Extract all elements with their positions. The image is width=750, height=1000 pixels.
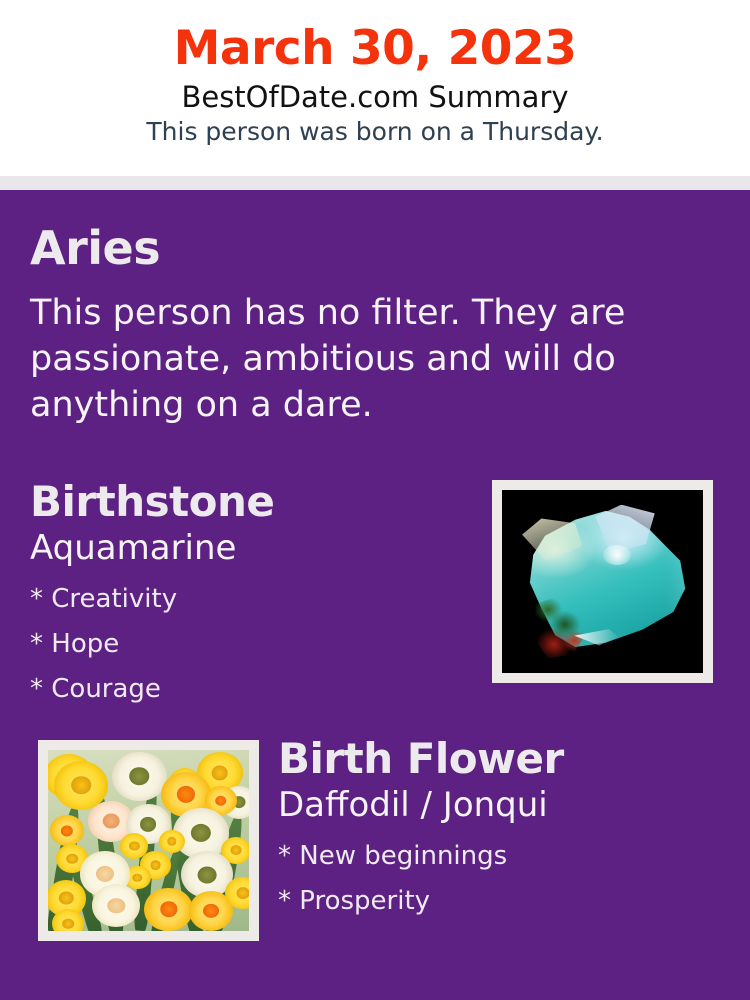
birth-flower-photo-frame xyxy=(38,740,259,941)
birth-flower-heading: Birth Flower xyxy=(278,735,718,783)
aquamarine-crystal-photo xyxy=(502,490,703,673)
birth-flower-name: Daffodil / Jonqui xyxy=(278,784,718,826)
daffodil-bloom xyxy=(52,909,84,931)
birth-flower-trait-list: * New beginnings * Prosperity xyxy=(278,834,718,924)
daffodil-bloom xyxy=(159,830,185,854)
header-divider xyxy=(0,176,750,190)
crystal-specular-highlight xyxy=(603,545,631,565)
daffodil-bloom xyxy=(112,752,166,801)
infographic-card: March 30, 2023 BestOfDate.com Summary Th… xyxy=(0,0,750,1000)
daffodil-bloom xyxy=(92,884,140,927)
weekday-statement: This person was born on a Thursday. xyxy=(0,117,750,147)
daffodil-field-photo xyxy=(48,750,249,931)
list-item: * Prosperity xyxy=(278,879,718,924)
list-item: * New beginnings xyxy=(278,834,718,879)
card-header: March 30, 2023 BestOfDate.com Summary Th… xyxy=(0,0,750,176)
zodiac-description: This person has no filter. They are pass… xyxy=(30,290,660,428)
list-item: * Courage xyxy=(30,667,480,712)
list-item: * Hope xyxy=(30,622,480,667)
birthstone-name: Aquamarine xyxy=(30,527,480,569)
daffodil-bloom xyxy=(144,888,192,931)
birth-flower-section: Birth Flower Daffodil / Jonqui * New beg… xyxy=(278,735,718,924)
zodiac-sign-heading: Aries xyxy=(30,222,160,274)
list-item: * Creativity xyxy=(30,577,480,622)
birthstone-photo-frame xyxy=(492,480,713,683)
birthstone-trait-list: * Creativity * Hope * Courage xyxy=(30,577,480,712)
site-summary-label: BestOfDate.com Summary xyxy=(0,80,750,114)
birthstone-heading: Birthstone xyxy=(30,478,480,526)
daffodil-bloom xyxy=(50,815,84,846)
page-title-date: March 30, 2023 xyxy=(0,22,750,76)
birthstone-section: Birthstone Aquamarine * Creativity * Hop… xyxy=(30,478,480,712)
